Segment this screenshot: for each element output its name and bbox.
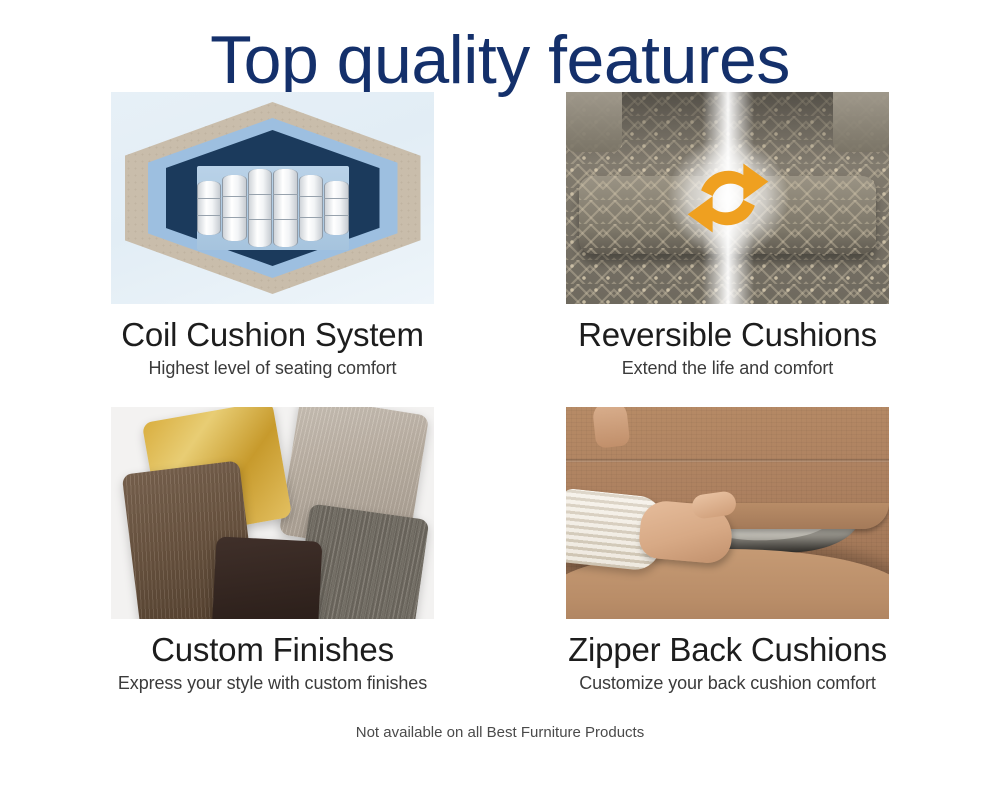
zipper-back-cushion-image bbox=[566, 407, 889, 619]
chair-arm-left bbox=[566, 92, 622, 152]
feature-title: Reversible Cushions bbox=[578, 316, 877, 355]
coil-cylinder bbox=[299, 175, 324, 241]
coil-cylinder bbox=[324, 181, 349, 235]
coil-cylinder bbox=[197, 181, 222, 235]
coil-scene-backdrop bbox=[111, 92, 434, 304]
cushion-top-seam bbox=[566, 459, 889, 462]
coil-hexagon-group bbox=[123, 100, 423, 296]
coil-cushion-cutaway-image bbox=[111, 92, 434, 304]
chair-arm-right bbox=[833, 92, 889, 152]
feature-card-zipper-back-cushions[interactable]: Zipper Back Cushions Customize your back… bbox=[500, 407, 955, 722]
reversible-cushions-image bbox=[566, 92, 889, 304]
coil-cylinder bbox=[222, 175, 247, 241]
finish-swatch-espresso bbox=[210, 536, 323, 619]
coil-spring-array bbox=[197, 166, 349, 250]
feature-title: Zipper Back Cushions bbox=[568, 631, 887, 670]
coil-cylinder bbox=[273, 169, 298, 247]
custom-finishes-image bbox=[111, 407, 434, 619]
reverse-arrows-icon bbox=[680, 150, 776, 246]
coil-cylinder bbox=[248, 169, 273, 247]
zipper-scene bbox=[566, 407, 889, 619]
page-title: Top quality features bbox=[0, 0, 1000, 92]
feature-card-reversible-cushions[interactable]: Reversible Cushions Extend the life and … bbox=[500, 92, 955, 407]
second-hand bbox=[592, 407, 631, 449]
feature-card-custom-finishes[interactable]: Custom Finishes Express your style with … bbox=[45, 407, 500, 722]
feature-subtitle: Highest level of seating comfort bbox=[149, 358, 397, 379]
feature-title: Custom Finishes bbox=[151, 631, 394, 670]
feature-card-coil-cushion-system[interactable]: Coil Cushion System Highest level of sea… bbox=[45, 92, 500, 407]
feature-subtitle: Extend the life and comfort bbox=[622, 358, 833, 379]
feature-title: Coil Cushion System bbox=[121, 316, 423, 355]
feature-subtitle: Express your style with custom finishes bbox=[118, 673, 427, 694]
feature-subtitle: Customize your back cushion comfort bbox=[579, 673, 876, 694]
footnote-disclaimer: Not available on all Best Furniture Prod… bbox=[0, 724, 1000, 741]
finishes-scene bbox=[111, 407, 434, 619]
reversible-scene bbox=[566, 92, 889, 304]
feature-grid: Coil Cushion System Highest level of sea… bbox=[0, 92, 1000, 722]
